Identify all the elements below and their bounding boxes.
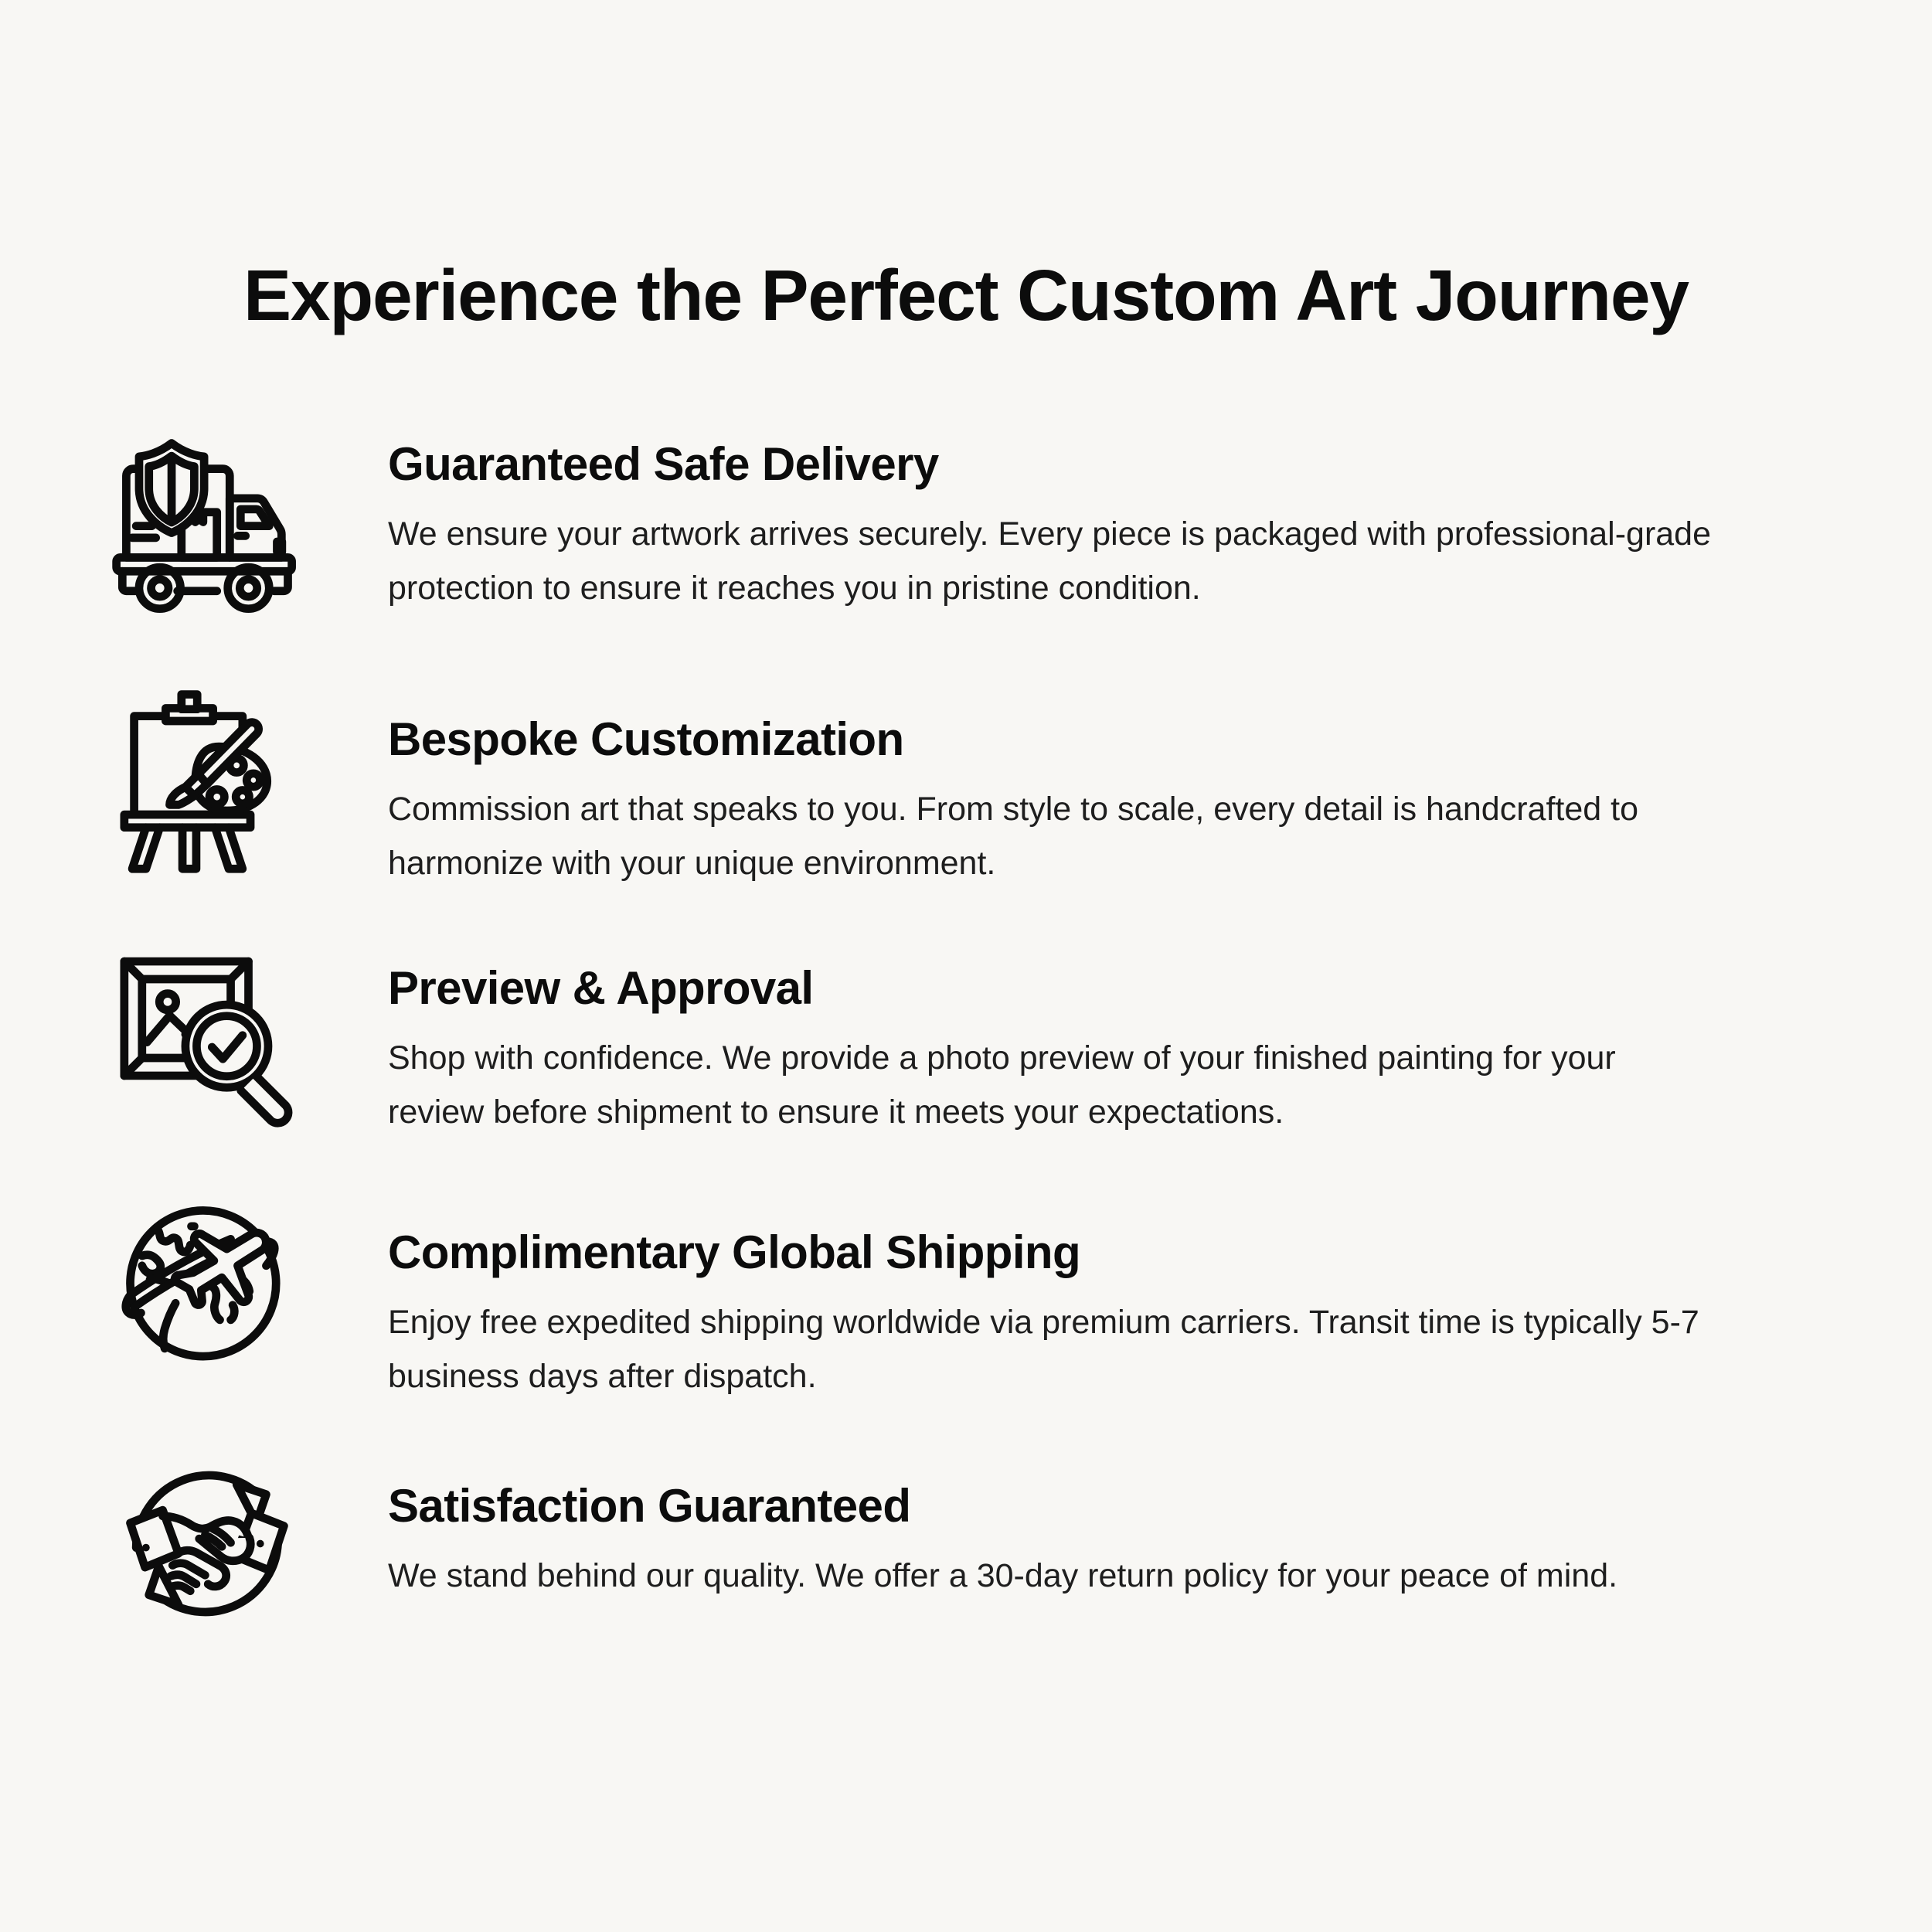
feature-heading: Preview & Approval: [388, 961, 1716, 1015]
feature-item: Complimentary Global Shipping Enjoy free…: [0, 1189, 1932, 1413]
feature-description: Commission art that speaks to you. From …: [388, 783, 1716, 890]
feature-text-block: Guaranteed Safe Delivery We ensure your …: [325, 417, 1716, 615]
feature-list: Guaranteed Safe Delivery We ensure your …: [0, 417, 1932, 1663]
feature-item: Preview & Approval Shop with confidence.…: [0, 934, 1932, 1158]
delivery-truck-shield-icon: [93, 417, 325, 641]
feature-heading: Guaranteed Safe Delivery: [388, 437, 1716, 491]
easel-palette-brush-icon: [93, 675, 325, 900]
feature-heading: Satisfaction Guaranteed: [388, 1479, 1716, 1532]
handshake-return-arrows-icon: [93, 1439, 325, 1663]
feature-heading: Complimentary Global Shipping: [388, 1226, 1716, 1279]
framed-picture-magnifier-check-icon: [93, 934, 325, 1158]
feature-benefits-page: Experience the Perfect Custom Art Journe…: [0, 0, 1932, 1932]
feature-item: Bespoke Customization Commission art tha…: [0, 675, 1932, 900]
feature-description: Shop with confidence. We provide a photo…: [388, 1032, 1716, 1139]
feature-text-block: Bespoke Customization Commission art tha…: [325, 675, 1716, 890]
feature-text-block: Complimentary Global Shipping Enjoy free…: [325, 1189, 1716, 1403]
feature-item: Satisfaction Guaranteed We stand behind …: [0, 1439, 1932, 1663]
globe-airplane-icon: [93, 1189, 325, 1413]
feature-text-block: Preview & Approval Shop with confidence.…: [325, 934, 1716, 1139]
feature-item: Guaranteed Safe Delivery We ensure your …: [0, 417, 1932, 641]
feature-description: Enjoy free expedited shipping worldwide …: [388, 1296, 1716, 1403]
feature-text-block: Satisfaction Guaranteed We stand behind …: [325, 1439, 1716, 1604]
feature-description: We stand behind our quality. We offer a …: [388, 1549, 1716, 1604]
page-title: Experience the Perfect Custom Art Journe…: [0, 255, 1932, 335]
feature-description: We ensure your artwork arrives securely.…: [388, 508, 1716, 615]
feature-heading: Bespoke Customization: [388, 713, 1716, 766]
